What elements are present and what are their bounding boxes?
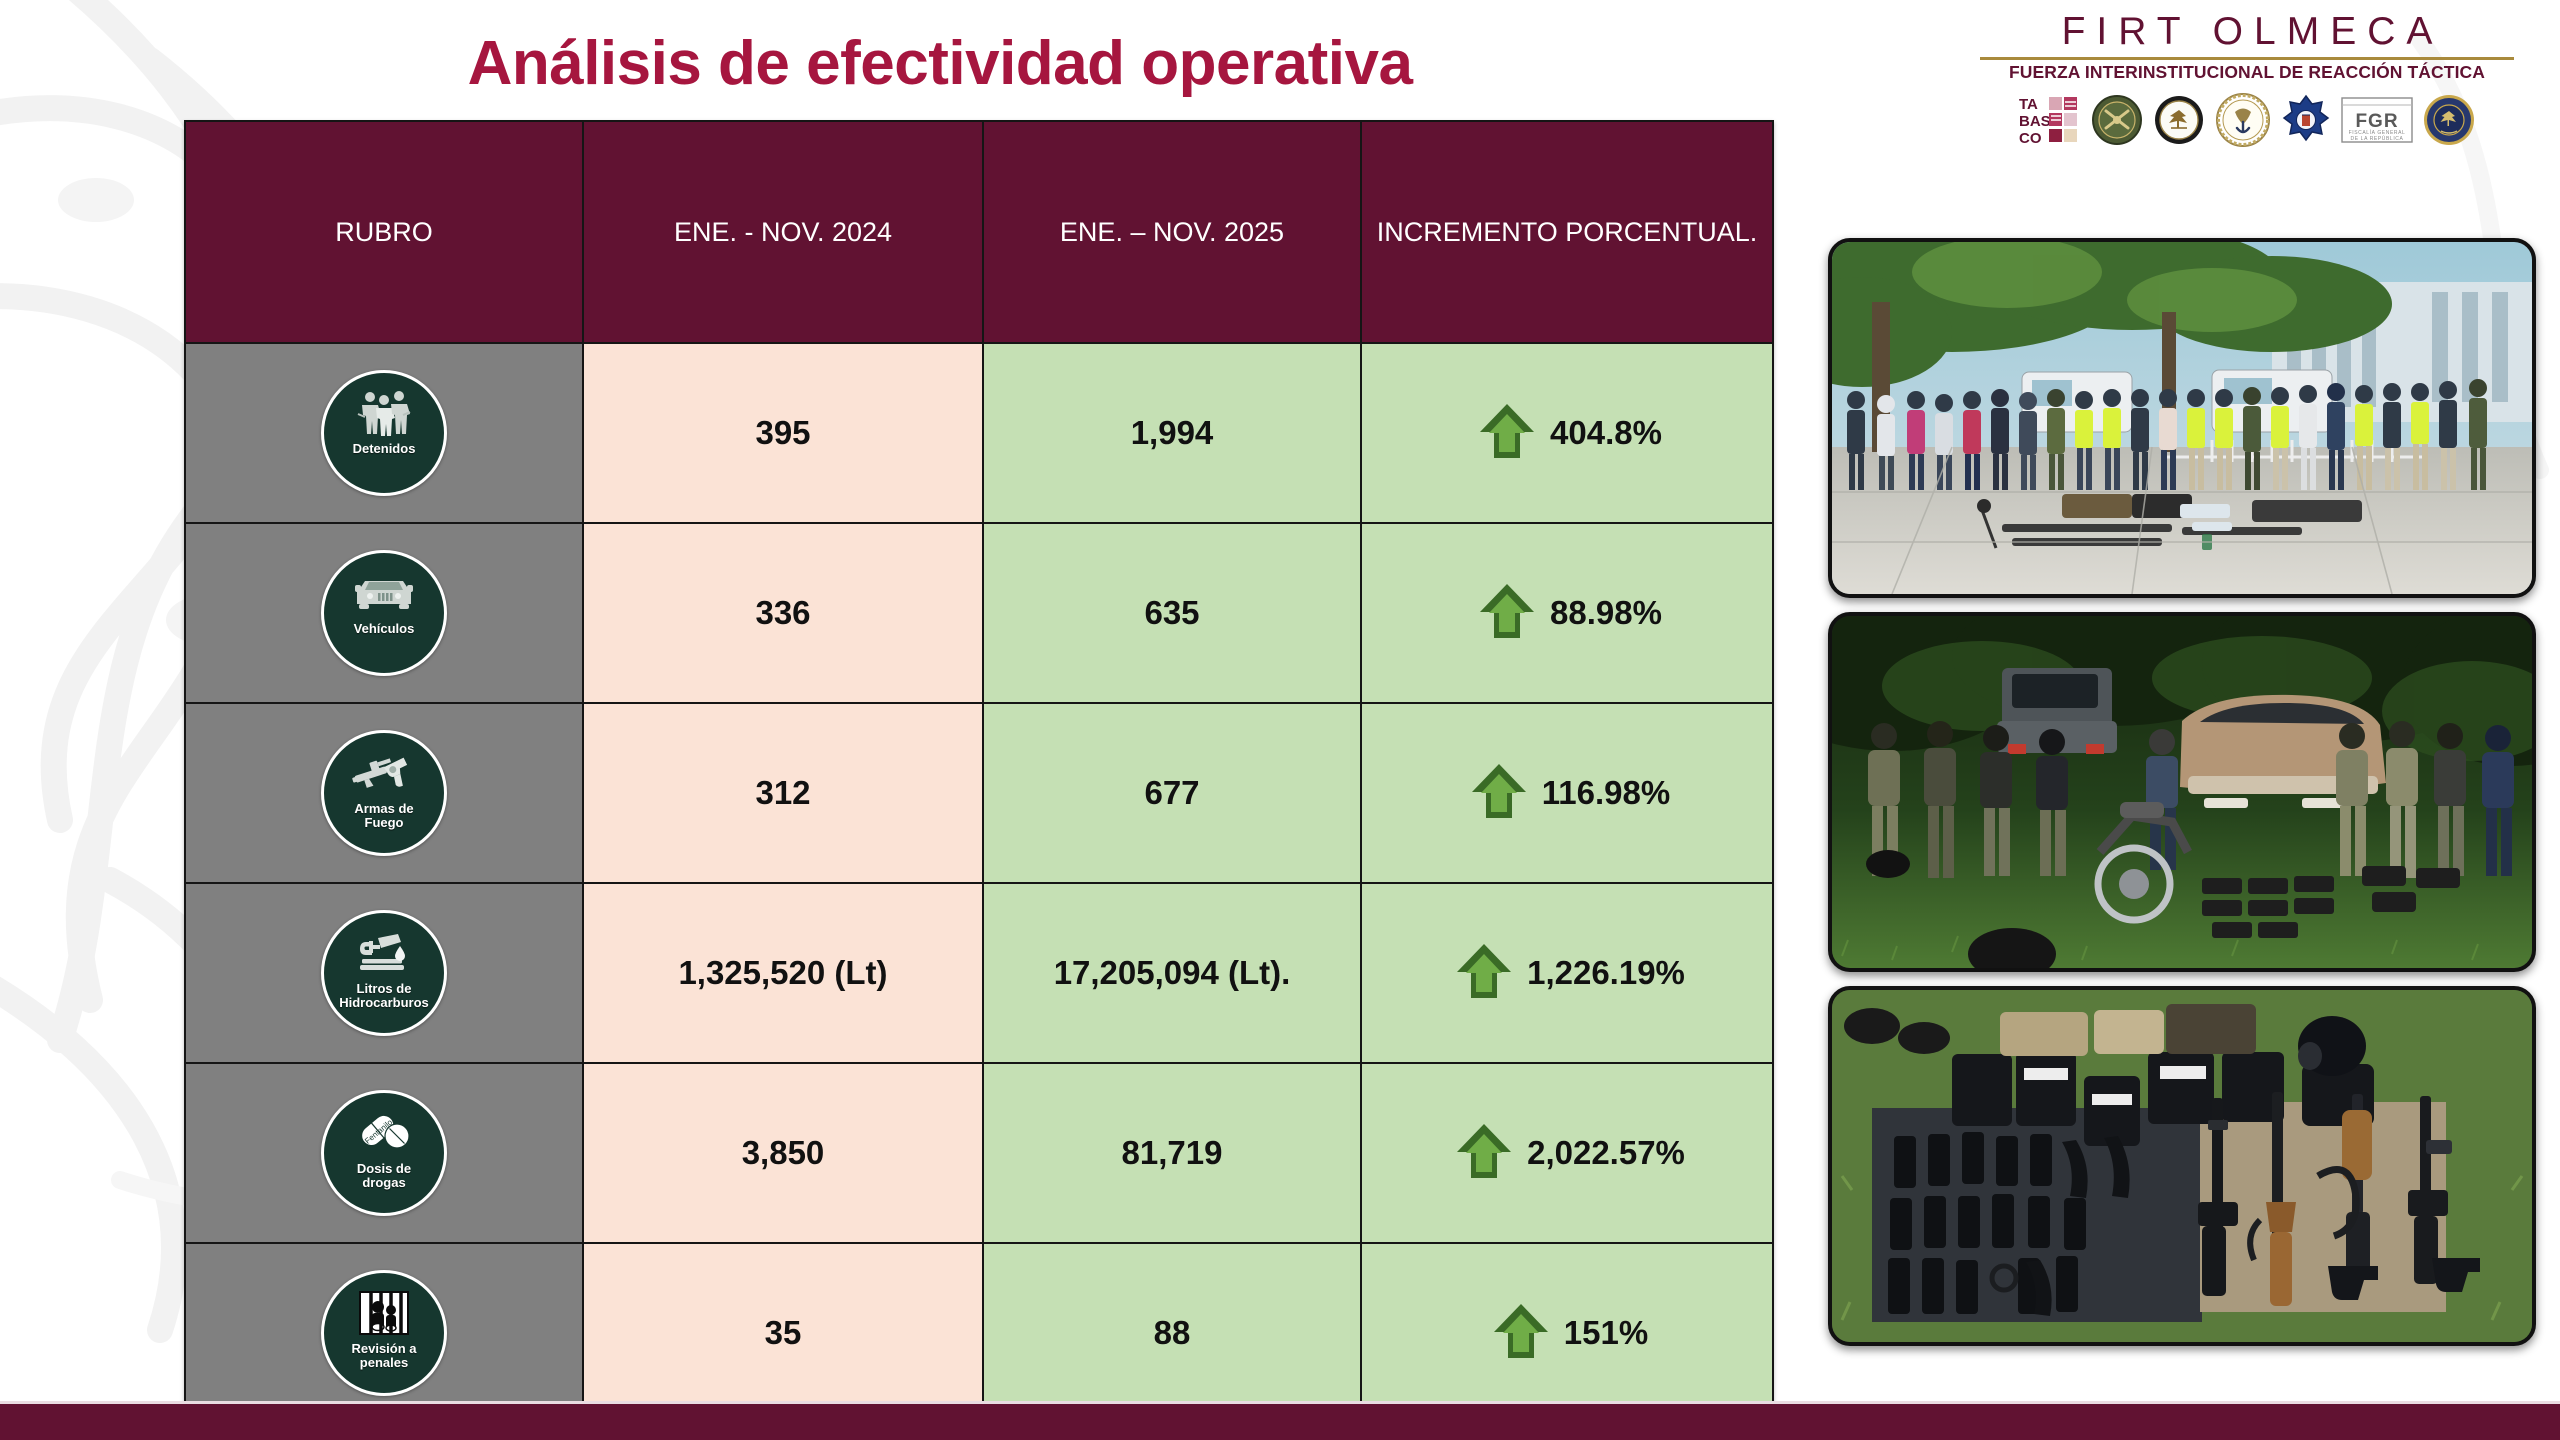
arrow-up-icon (1455, 1122, 1513, 1184)
guardia-nacional-seal (2153, 94, 2205, 146)
increment-cell: 116.98% (1361, 703, 1773, 883)
fiscalia-tabasco-seal (2423, 94, 2475, 146)
table-row: Litros de Hidrocarburos 1,325,520 (Lt) 1… (185, 883, 1773, 1063)
rubro-label: Vehículos (350, 622, 419, 636)
prev-year-value: 312 (583, 703, 983, 883)
rubro-badge: Fentanilo Dosis de drogas (321, 1090, 447, 1216)
photo-detainees-lineup (1828, 238, 2536, 598)
curr-year-value: 17,205,094 (Lt). (983, 883, 1361, 1063)
photo-stack (1828, 238, 2536, 1360)
photo-seized-weapons-gear (1828, 986, 2536, 1346)
rubro-cell: Revisión a penales (185, 1243, 583, 1423)
increment-value: 1,226.19% (1527, 954, 1685, 992)
semar-seal (2215, 92, 2271, 148)
curr-year-value: 635 (983, 523, 1361, 703)
svg-text:CO: CO (2019, 130, 2042, 146)
increment-value: 88.98% (1550, 594, 1662, 632)
column-header-rubro: RUBRO (185, 121, 583, 343)
increment-cell: 2,022.57% (1361, 1063, 1773, 1243)
rubro-badge: Revisión a penales (321, 1270, 447, 1396)
rubro-label: Revisión a penales (347, 1342, 420, 1370)
detainees-icon (356, 386, 412, 440)
svg-text:BAS: BAS (2019, 113, 2051, 130)
fgr-logo: FGR FISCALÍA GENERAL DE LA REPÚBLICA (2341, 94, 2413, 146)
column-header-prev-year: ENE. - NOV. 2024 (583, 121, 983, 343)
fuel-icon (354, 926, 414, 980)
policia-estatal-badge (2281, 94, 2331, 146)
arrow-up-icon (1492, 1302, 1550, 1364)
rubro-label: Detenidos (349, 442, 420, 456)
increment-value: 404.8% (1550, 414, 1662, 452)
curr-year-value: 1,994 (983, 343, 1361, 523)
arrow-up-icon (1478, 402, 1536, 464)
page-title: Análisis de efectividad operativa (0, 28, 1880, 99)
column-header-curr-year: ENE. – NOV. 2025 (983, 121, 1361, 343)
arrow-up-icon (1455, 942, 1513, 1004)
prev-year-value: 336 (583, 523, 983, 703)
effectiveness-table: RUBRO ENE. - NOV. 2024 ENE. – NOV. 2025 … (184, 120, 1774, 1424)
increment-cell: 88.98% (1361, 523, 1773, 703)
rubro-badge: Detenidos (321, 370, 447, 496)
table-row: Vehículos 336 635 88.98% (185, 523, 1773, 703)
rubro-badge: Vehículos (321, 550, 447, 676)
drugs-icon: Fentanilo (355, 1106, 413, 1160)
svg-text:FISCALÍA GENERAL: FISCALÍA GENERAL (2349, 129, 2406, 136)
tabasco-logo: TA BAS CO (2019, 94, 2081, 146)
brand-divider (1980, 57, 2514, 60)
svg-text:TA: TA (2019, 96, 2038, 113)
rubro-cell: Vehículos (185, 523, 583, 703)
increment-cell: 151% (1361, 1243, 1773, 1423)
prev-year-value: 3,850 (583, 1063, 983, 1243)
vehicle-icon (353, 566, 415, 620)
bottom-bar (0, 1404, 2560, 1440)
firearms-icon (351, 746, 417, 800)
rubro-badge: Armas de Fuego (321, 730, 447, 856)
rubro-cell: Fentanilo Dosis de drogas (185, 1063, 583, 1243)
table-row: Revisión a penales 35 88 151% (185, 1243, 1773, 1423)
table-row: Fentanilo Dosis de drogas 3,850 81,719 (185, 1063, 1773, 1243)
increment-value: 2,022.57% (1527, 1134, 1685, 1172)
arrow-up-icon (1478, 582, 1536, 644)
column-header-increment: INCREMENTO PORCENTUAL. (1361, 121, 1773, 343)
increment-value: 116.98% (1542, 774, 1670, 812)
brand-subtitle: FUERZA INTERINSTITUCIONAL DE REACCIÓN TÁ… (1962, 62, 2532, 83)
increment-cell: 404.8% (1361, 343, 1773, 523)
rubro-label: Dosis de drogas (353, 1162, 415, 1190)
svg-text:DE LA REPÚBLICA: DE LA REPÚBLICA (2351, 135, 2404, 142)
rubro-badge: Litros de Hidrocarburos (321, 910, 447, 1036)
rubro-label: Litros de Hidrocarburos (335, 982, 433, 1010)
rubro-label: Armas de Fuego (350, 802, 417, 830)
prison-icon (358, 1286, 410, 1340)
svg-text:FGR: FGR (2355, 111, 2398, 132)
prev-year-value: 395 (583, 343, 983, 523)
arrow-up-icon (1470, 762, 1528, 824)
rubro-cell: Litros de Hidrocarburos (185, 883, 583, 1063)
table-row: Armas de Fuego 312 677 116.98% (185, 703, 1773, 883)
table-header-row: RUBRO ENE. - NOV. 2024 ENE. – NOV. 2025 … (185, 121, 1773, 343)
brand-block: FIRT OLMECA FUERZA INTERINSTITUCIONAL DE… (1962, 12, 2532, 148)
table-row: Detenidos 395 1,994 404.8% (185, 343, 1773, 523)
curr-year-value: 81,719 (983, 1063, 1361, 1243)
photo-night-vehicle-seizure (1828, 612, 2536, 972)
increment-value: 151% (1564, 1314, 1648, 1352)
rubro-cell: Armas de Fuego (185, 703, 583, 883)
institution-logos: TA BAS CO (1962, 92, 2532, 148)
increment-cell: 1,226.19% (1361, 883, 1773, 1063)
curr-year-value: 88 (983, 1243, 1361, 1423)
sedena-seal (2091, 94, 2143, 146)
rubro-cell: Detenidos (185, 343, 583, 523)
curr-year-value: 677 (983, 703, 1361, 883)
brand-title: FIRT OLMECA (1962, 12, 2532, 53)
prev-year-value: 1,325,520 (Lt) (583, 883, 983, 1063)
prev-year-value: 35 (583, 1243, 983, 1423)
